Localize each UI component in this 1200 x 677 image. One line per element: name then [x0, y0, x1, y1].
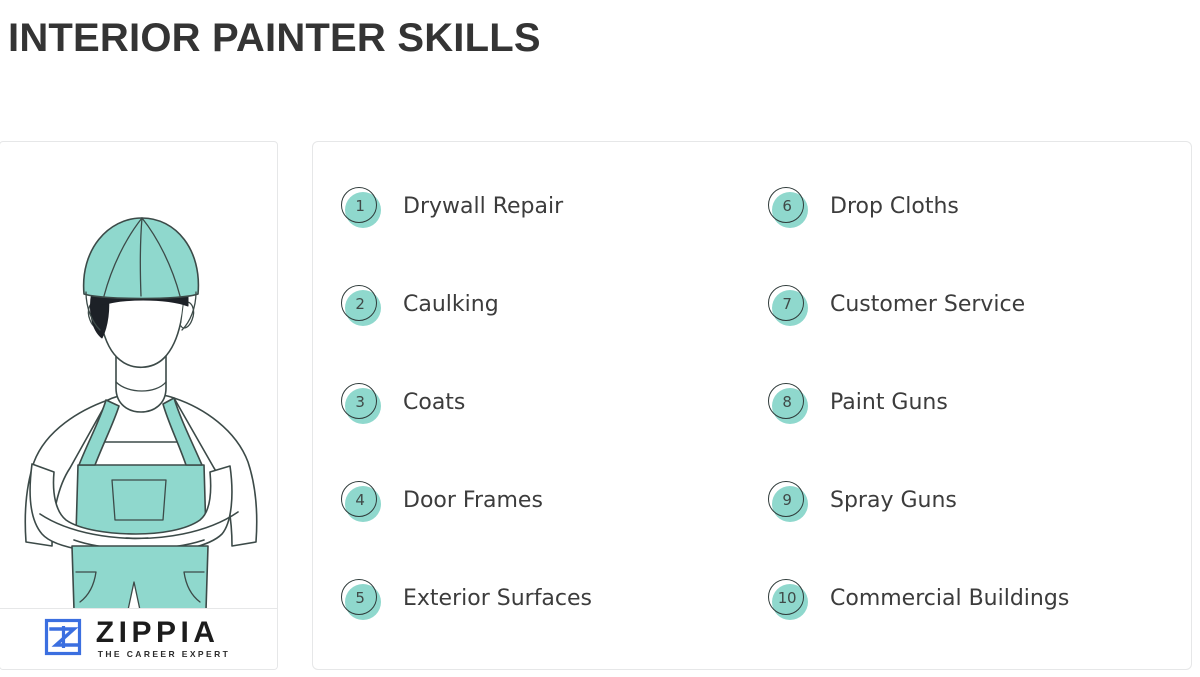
illustration-panel: ZIPPIA THE CAREER EXPERT	[0, 141, 278, 670]
skill-label: Drop Cloths	[830, 187, 959, 227]
rank-badge: 2	[341, 285, 381, 325]
page-title: INTERIOR PAINTER SKILLS	[8, 13, 541, 63]
list-item[interactable]: 4 Door Frames	[341, 481, 761, 579]
rank-badge: 1	[341, 187, 381, 227]
painter-illustration	[0, 142, 278, 610]
rank-badge: 9	[768, 481, 808, 521]
rank-badge: 10	[768, 579, 808, 619]
skill-label: Paint Guns	[830, 383, 948, 423]
rank-badge: 8	[768, 383, 808, 423]
skill-label: Coats	[403, 383, 465, 423]
skill-label: Commercial Buildings	[830, 579, 1069, 619]
badge-number: 2	[341, 285, 379, 323]
skills-column-right: 6 Drop Cloths 7 Customer Service 8 Pa	[768, 187, 1183, 677]
badge-number: 1	[341, 187, 379, 225]
badge-number: 3	[341, 383, 379, 421]
skill-label: Exterior Surfaces	[403, 579, 592, 619]
list-item[interactable]: 1 Drywall Repair	[341, 187, 761, 285]
badge-number: 9	[768, 481, 806, 519]
skills-card: 1 Drywall Repair 2 Caulking 3 Coats	[312, 141, 1192, 670]
skill-label: Caulking	[403, 285, 499, 325]
skill-label: Drywall Repair	[403, 187, 563, 227]
zippia-z-icon	[43, 617, 83, 661]
list-item[interactable]: 5 Exterior Surfaces	[341, 579, 761, 677]
badge-number: 10	[768, 579, 806, 617]
badge-number: 7	[768, 285, 806, 323]
list-item[interactable]: 3 Coats	[341, 383, 761, 481]
badge-number: 8	[768, 383, 806, 421]
list-item[interactable]: 7 Customer Service	[768, 285, 1183, 383]
skills-column-left: 1 Drywall Repair 2 Caulking 3 Coats	[341, 187, 761, 677]
zippia-wordmark: ZIPPIA	[96, 618, 230, 647]
infographic-page: INTERIOR PAINTER SKILLS	[0, 0, 1200, 675]
badge-number: 5	[341, 579, 379, 617]
rank-badge: 5	[341, 579, 381, 619]
list-item[interactable]: 8 Paint Guns	[768, 383, 1183, 481]
rank-badge: 7	[768, 285, 808, 325]
list-item[interactable]: 6 Drop Cloths	[768, 187, 1183, 285]
badge-number: 6	[768, 187, 806, 225]
zippia-logo[interactable]: ZIPPIA THE CAREER EXPERT	[0, 608, 278, 669]
rank-badge: 6	[768, 187, 808, 227]
rank-badge: 3	[341, 383, 381, 423]
list-item[interactable]: 9 Spray Guns	[768, 481, 1183, 579]
rank-badge: 4	[341, 481, 381, 521]
list-item[interactable]: 10 Commercial Buildings	[768, 579, 1183, 677]
skill-label: Spray Guns	[830, 481, 957, 521]
skill-label: Customer Service	[830, 285, 1025, 325]
zippia-tagline: THE CAREER EXPERT	[98, 648, 230, 660]
skill-label: Door Frames	[403, 481, 543, 521]
badge-number: 4	[341, 481, 379, 519]
list-item[interactable]: 2 Caulking	[341, 285, 761, 383]
